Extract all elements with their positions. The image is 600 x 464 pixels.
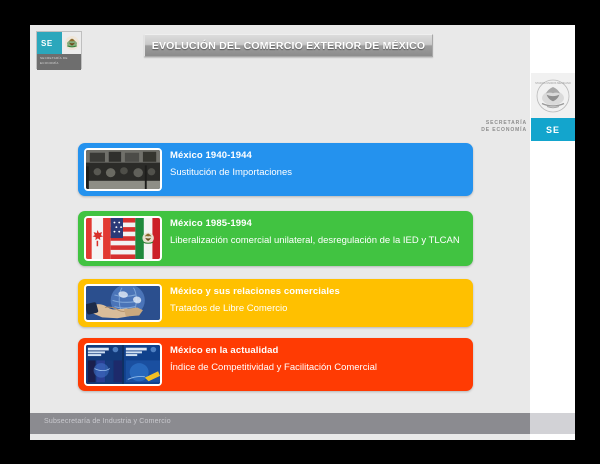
list-item-subtitle: Índice de Competitividad y Facilitación … <box>170 361 465 375</box>
page-title: EVOLUCIÓN DEL COMERCIO EXTERIOR DE MÉXIC… <box>152 40 425 52</box>
list-item-heading: México en la actualidad <box>170 344 465 357</box>
mexican-eagle-icon <box>62 32 81 54</box>
secretaria-logo-left: SE SECRETARÍA DE ECONOMÍA <box>36 31 82 69</box>
logo-left-wordmark: SECRETARÍA DE ECONOMÍA <box>37 54 81 70</box>
two-report-covers-photo <box>84 343 162 386</box>
slide-footer: Subsecretaría de Industria y Comercio <box>30 413 530 434</box>
list-item-heading: México 1940-1944 <box>170 149 465 162</box>
list-item[interactable]: México y sus relaciones comerciales Trat… <box>78 279 473 327</box>
list-item[interactable]: México 1985-1994 Liberalización comercia… <box>78 211 473 266</box>
list-item-subtitle: Tratados de Libre Comercio <box>170 302 465 316</box>
logo-left-top: SE <box>37 32 81 54</box>
svg-text:ESTADOS UNIDOS MEXICANOS: ESTADOS UNIDOS MEXICANOS <box>535 81 571 85</box>
logo-left-line2: ECONOMÍA <box>40 61 78 66</box>
logo-right-mark: SE <box>531 118 575 141</box>
logo-right-line2: DE ECONOMÍA <box>474 127 527 134</box>
logo-right-line1: SECRETARÍA <box>474 120 527 127</box>
list-item-subtitle: Liberalización comercial unilateral, des… <box>170 234 465 248</box>
list-item-heading: México 1985-1994 <box>170 217 465 230</box>
list-item-heading: México y sus relaciones comerciales <box>170 285 465 298</box>
list-item-texts: México 1985-1994 Liberalización comercia… <box>170 217 465 248</box>
list-item-subtitle: Sustitución de Importaciones <box>170 166 465 180</box>
list-item[interactable]: México 1940-1944 Sustitución de Importac… <box>78 143 473 196</box>
secretaria-logo-right: SECRETARÍA DE ECONOMÍA ESTADOS UNIDOS ME… <box>474 73 575 149</box>
presentation-slide: SE SECRETARÍA DE ECONOMÍA EVOLUCIÓN DEL … <box>30 25 575 440</box>
list-item-texts: México en la actualidad Índice de Compet… <box>170 344 465 375</box>
list-item[interactable]: México en la actualidad Índice de Compet… <box>78 338 473 391</box>
slide-title-banner: EVOLUCIÓN DEL COMERCIO EXTERIOR DE MÉXIC… <box>144 34 433 57</box>
canada-usa-mexico-flags-photo <box>84 216 162 261</box>
logo-left-mark: SE <box>37 32 62 54</box>
historic-black-and-white-photo <box>84 148 162 191</box>
footer-text: Subsecretaría de Industria y Comercio <box>44 418 171 425</box>
slide-footer-accent <box>530 413 575 434</box>
logo-right-wordmark: SECRETARÍA DE ECONOMÍA <box>474 120 527 134</box>
list-item-texts: México y sus relaciones comerciales Trat… <box>170 285 465 316</box>
handshake-over-globe-photo <box>84 284 162 322</box>
list-item-texts: México 1940-1944 Sustitución de Importac… <box>170 149 465 180</box>
mexican-eagle-icon: ESTADOS UNIDOS MEXICANOS <box>531 73 575 118</box>
